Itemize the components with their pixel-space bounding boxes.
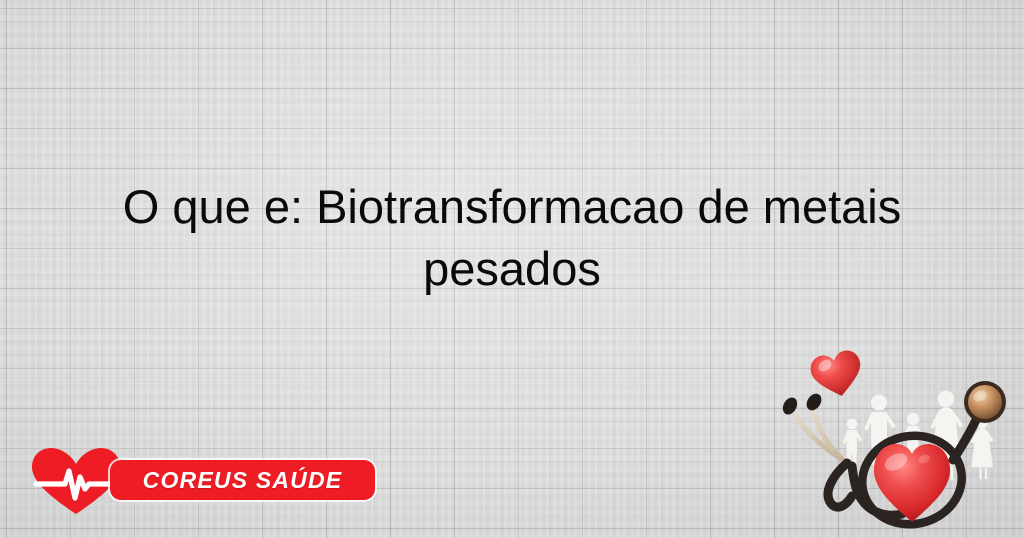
- brand-logo[interactable]: COREUS SAÚDE: [30, 446, 360, 516]
- brand-badge-label: COREUS SAÚDE: [143, 467, 343, 494]
- stethoscope-chestpiece-icon: [964, 381, 1006, 423]
- slide-canvas: O que e: Biotransformacao de metais pesa…: [0, 0, 1024, 538]
- small-floating-heart-icon: [808, 348, 866, 401]
- stethoscope-heart-family-illustration: [770, 340, 1024, 538]
- brand-badge[interactable]: COREUS SAÚDE: [110, 460, 375, 500]
- page-title: O que e: Biotransformacao de metais pesa…: [40, 176, 984, 300]
- heart-pulse-icon: [30, 446, 122, 516]
